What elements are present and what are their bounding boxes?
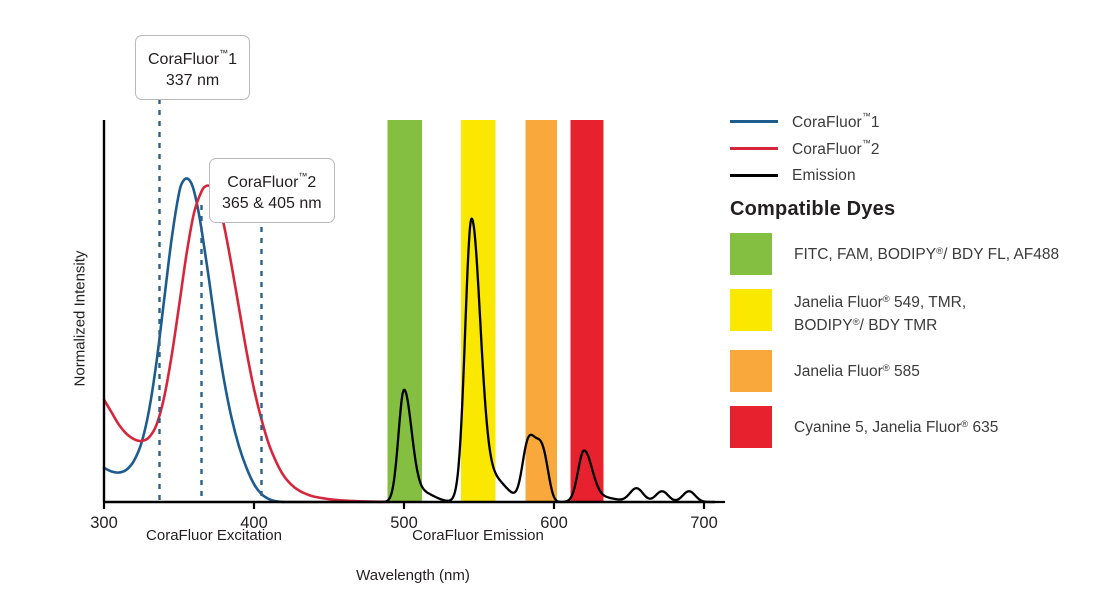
y-axis-title-text: Normalized Intensity: [72, 251, 89, 387]
compatible-dyes-title: Compatible Dyes: [730, 198, 895, 221]
emission-curve: [284, 219, 724, 502]
registered-mark: ®: [853, 317, 860, 328]
dye-legend-label: Cyanine 5, Janelia Fluor® 635: [794, 406, 998, 438]
dye-legend-item-4: Cyanine 5, Janelia Fluor® 635: [730, 406, 1100, 448]
dye-legend-label: Janelia Fluor® 585: [794, 350, 920, 382]
legend-item-label: CoraFluor™1: [792, 111, 880, 132]
trademark-mark: ™: [298, 171, 307, 181]
trademark-mark: ™: [862, 138, 871, 148]
red-band: [571, 120, 604, 502]
green-band: [388, 120, 423, 502]
x-axis-title: Wavelength (nm): [263, 567, 563, 584]
registered-mark: ®: [936, 246, 943, 257]
registered-mark: ®: [883, 294, 890, 305]
series-legend: CoraFluor™1CoraFluor™2Emission: [730, 108, 1090, 189]
registered-mark: ®: [961, 419, 968, 430]
trademark-mark: ™: [862, 111, 871, 121]
legend-item-label: CoraFluor™2: [792, 138, 880, 159]
dye-color-swatch: [730, 233, 772, 275]
legend-line-swatch: [730, 174, 778, 177]
excitation-curve: [104, 178, 284, 502]
dye-label-line1: Cyanine 5, Janelia Fluor® 635: [794, 415, 998, 438]
dye-color-swatch: [730, 406, 772, 448]
legend-item-label: Emission: [792, 167, 856, 185]
dye-color-swatch: [730, 289, 772, 331]
corafluor2-callout-line1: CoraFluor™2: [222, 166, 322, 193]
legend-item-3: Emission: [730, 162, 1090, 189]
corafluor1-callout-line2: 337 nm: [148, 70, 237, 91]
dye-label-line2: BODIPY®/ BDY TMR: [794, 313, 966, 336]
legend-line-swatch: [730, 120, 778, 123]
x-axis-title-text: Wavelength (nm): [356, 567, 470, 584]
dye-label-line1: FITC, FAM, BODIPY®/ BDY FL, AF488: [794, 242, 1059, 265]
dye-bands-layer: [388, 120, 604, 502]
excitation-curve: [104, 185, 389, 502]
dye-label-line1: Janelia Fluor® 585: [794, 359, 920, 382]
corafluor2-callout: CoraFluor™2 365 & 405 nm: [209, 158, 335, 223]
corafluor1-callout: CoraFluor™1 337 nm: [135, 35, 250, 100]
compatible-dyes-legend: FITC, FAM, BODIPY®/ BDY FL, AF488Janelia…: [730, 233, 1100, 462]
corafluor1-callout-line1: CoraFluor™1: [148, 43, 237, 70]
corafluor2-callout-line2: 365 & 405 nm: [222, 193, 322, 214]
trademark-mark: ™: [219, 48, 228, 58]
y-axis-title: Normalized Intensity: [72, 224, 89, 414]
section-label-excitation: CoraFluor Excitation: [104, 527, 324, 544]
dye-label-line1: Janelia Fluor® 549, TMR,: [794, 290, 966, 313]
x-tick-label-700: 700: [690, 514, 718, 532]
dye-legend-item-3: Janelia Fluor® 585: [730, 350, 1100, 392]
legend-item-1: CoraFluor™1: [730, 108, 1090, 135]
dye-legend-label: Janelia Fluor® 549, TMR,BODIPY®/ BDY TMR: [794, 289, 966, 336]
section-label-emission: CoraFluor Emission: [368, 527, 588, 544]
section-label-excitation-text: CoraFluor Excitation: [146, 527, 282, 544]
legend-line-swatch: [730, 147, 778, 150]
section-label-emission-text: CoraFluor Emission: [412, 527, 544, 544]
dye-legend-item-1: FITC, FAM, BODIPY®/ BDY FL, AF488: [730, 233, 1100, 275]
dye-legend-item-2: Janelia Fluor® 549, TMR,BODIPY®/ BDY TMR: [730, 289, 1100, 336]
legend-item-2: CoraFluor™2: [730, 135, 1090, 162]
dye-color-swatch: [730, 350, 772, 392]
dye-legend-label: FITC, FAM, BODIPY®/ BDY FL, AF488: [794, 233, 1059, 265]
registered-mark: ®: [883, 363, 890, 374]
